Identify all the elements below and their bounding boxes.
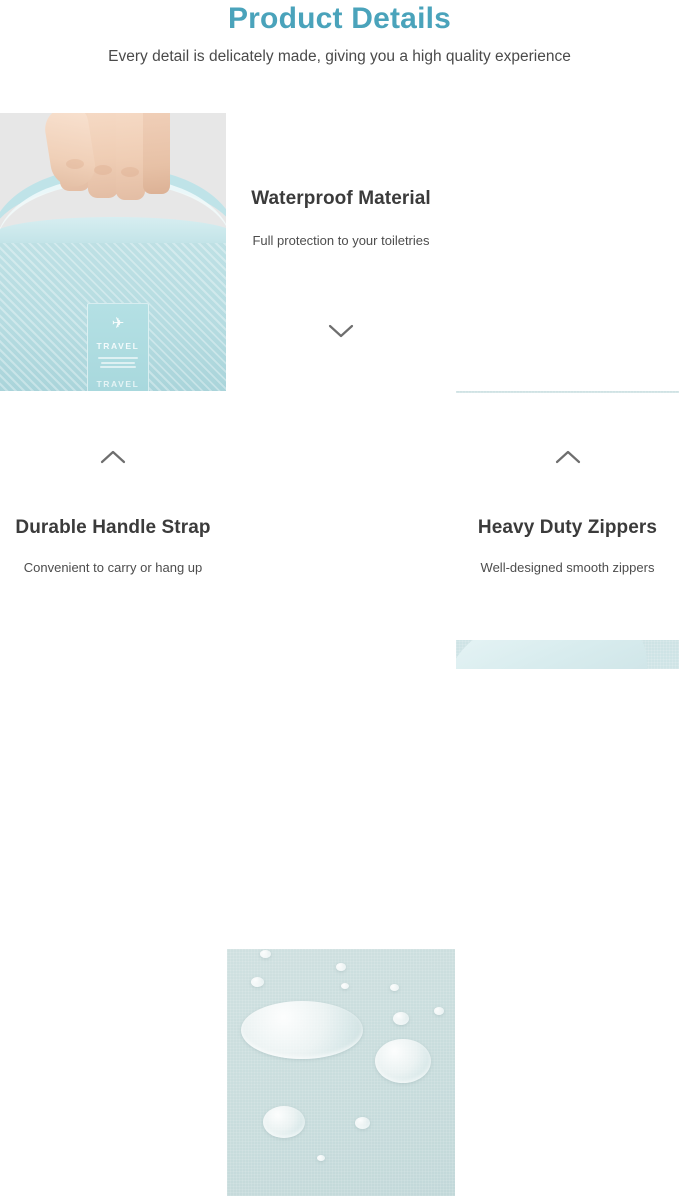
water-droplet-small-4 (341, 983, 349, 989)
page-header: Product Details Every detail is delicate… (0, 0, 679, 113)
zippers-subtext: Well-designed smooth zippers (481, 560, 655, 575)
water-droplet-medium (375, 1039, 431, 1083)
travel-tag-fineprint (98, 357, 138, 371)
hand-shape (54, 113, 182, 211)
water-droplet-small-9 (317, 1155, 325, 1161)
waterproof-heading: Waterproof Material (251, 188, 431, 210)
handle-heading: Durable Handle Strap (15, 517, 210, 539)
travel-tag-text-bottom: TRAVEL (97, 379, 140, 389)
water-droplet-medium-2 (263, 1106, 305, 1138)
travel-label-tag: ✈ TRAVEL TRAVEL (87, 303, 149, 391)
waterproof-subtext: Full protection to your toiletries (252, 233, 429, 248)
chevron-down-icon (328, 324, 354, 338)
fineprint-line-3 (100, 366, 137, 368)
zippers-feature-block: Heavy Duty Zippers Well-designed smooth … (456, 393, 679, 640)
water-droplet-small-5 (393, 1012, 409, 1025)
water-droplet-small-2 (260, 950, 271, 958)
page-title: Product Details (0, 2, 679, 36)
knuckle-1 (66, 159, 84, 169)
handle-feature-block: Durable Handle Strap Convenient to carry… (0, 393, 226, 640)
finger-4 (143, 113, 170, 194)
fineprint-line-1 (98, 357, 138, 359)
water-droplet-large (241, 1001, 363, 1059)
water-droplet-small-8 (434, 1007, 444, 1015)
knuckle-2 (94, 165, 112, 175)
water-droplet-small-7 (390, 984, 399, 991)
feature-grid: ✈ TRAVEL TRAVEL Waterproof Material Full… (0, 113, 679, 640)
travel-tag-text: TRAVEL (97, 341, 140, 351)
water-droplet-small-6 (355, 1117, 370, 1129)
waterproof-feature-block: Waterproof Material Full protection to y… (227, 113, 455, 391)
chevron-up-icon (555, 450, 581, 464)
chevron-up-icon (100, 450, 126, 464)
water-droplet-small-3 (336, 963, 346, 971)
handle-strap-photo: ✈ TRAVEL TRAVEL (0, 113, 226, 391)
handle-subtext: Convenient to carry or hang up (24, 560, 203, 575)
finger-3 (116, 113, 145, 200)
page-subtitle: Every detail is delicately made, giving … (0, 48, 679, 66)
knuckle-3 (121, 167, 139, 177)
water-droplet-small-1 (251, 977, 264, 987)
zippers-heading: Heavy Duty Zippers (478, 517, 657, 539)
waterproof-photo (227, 949, 455, 1196)
fineprint-line-2 (101, 362, 135, 364)
airplane-icon: ✈ (112, 316, 125, 331)
